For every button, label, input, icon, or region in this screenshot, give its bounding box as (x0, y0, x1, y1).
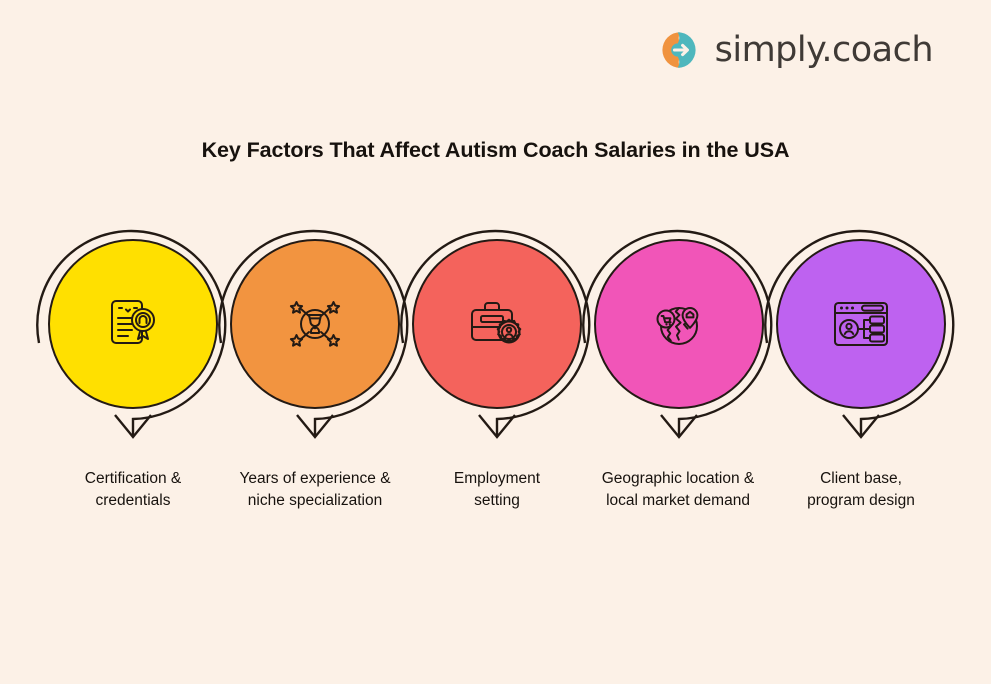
step-3-circle (412, 239, 582, 409)
label-step-4-line1: Geographic location & (572, 468, 784, 490)
label-step-1-line1: Certification & (33, 468, 233, 490)
label-step-2: Years of experience & niche specializati… (209, 468, 421, 512)
label-step-4-line2: local market demand (572, 490, 784, 512)
step-1-circle (48, 239, 218, 409)
label-step-3-line1: Employment (397, 468, 597, 490)
browser-org-chart-user-icon (830, 297, 892, 351)
infographic-page: simply.coach Key Factors That Affect Aut… (0, 0, 991, 684)
factor-labels: Certification & credentials Years of exp… (0, 468, 991, 528)
step-2-circle (230, 239, 400, 409)
label-step-1: Certification & credentials (33, 468, 233, 512)
simply-coach-logo-mark (657, 28, 701, 72)
brand-wordmark: simply.coach (715, 33, 933, 68)
page-title: Key Factors That Affect Autism Coach Sal… (0, 138, 991, 163)
label-step-3-line2: setting (397, 490, 597, 512)
label-step-4: Geographic location & local market deman… (572, 468, 784, 512)
trophy-stars-icon (284, 294, 346, 354)
brand-logo: simply.coach (657, 28, 933, 72)
globe-location-pin-cart-icon (650, 295, 708, 353)
label-step-2-line2: niche specialization (209, 490, 421, 512)
step-4-circle (594, 239, 764, 409)
label-step-1-line2: credentials (33, 490, 233, 512)
label-step-5-line1: Client base, (761, 468, 961, 490)
certificate-award-icon (103, 294, 163, 354)
step-5-circle (776, 239, 946, 409)
label-step-5: Client base, program design (761, 468, 961, 512)
briefcase-gear-person-icon (466, 296, 528, 352)
label-step-3: Employment setting (397, 468, 597, 512)
label-step-5-line2: program design (761, 490, 961, 512)
label-step-2-line1: Years of experience & (209, 468, 421, 490)
